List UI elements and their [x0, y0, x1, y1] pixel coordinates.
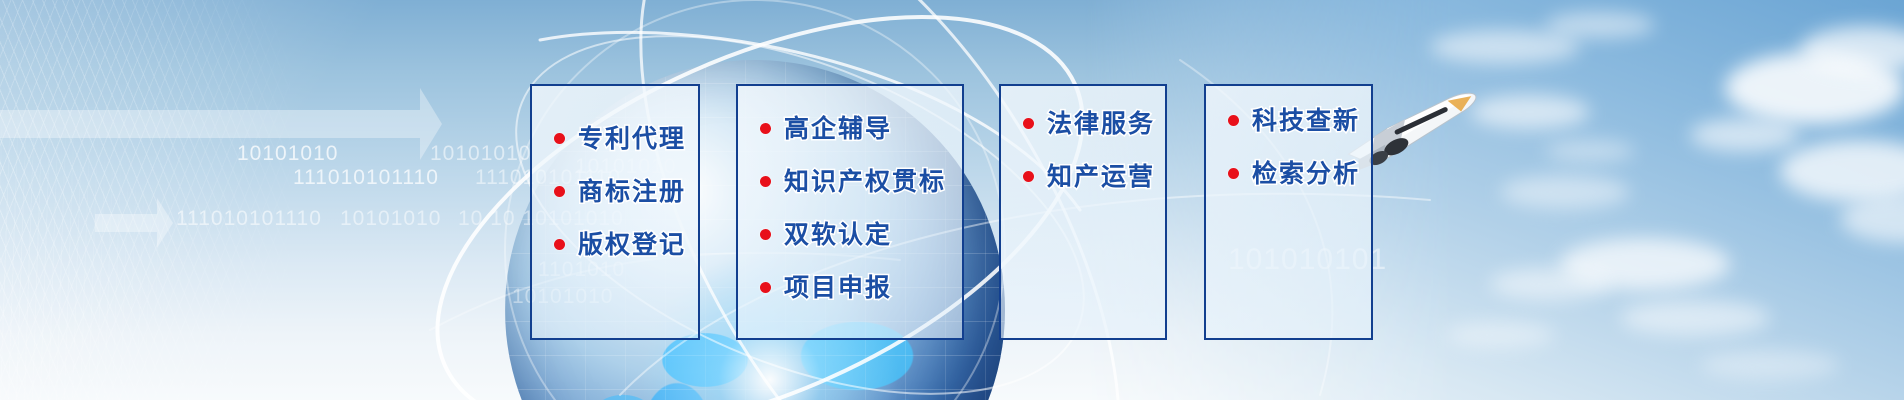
binary-text: 10101010: [237, 142, 338, 166]
binary-text: 111010101110: [176, 207, 322, 231]
service-item[interactable]: 双软认定: [760, 222, 962, 247]
service-item[interactable]: 知产运营: [1023, 164, 1165, 189]
promo-banner: 1010101011101010111010101010111010101110…: [0, 0, 1904, 400]
cloud-shape: [1490, 268, 1610, 300]
service-item-list: 科技查新检索分析: [1228, 108, 1371, 214]
service-item-label: 检索分析: [1252, 161, 1360, 186]
binary-text: 111010101110: [293, 166, 439, 190]
bullet-dot-icon: [760, 176, 771, 187]
service-item-label: 知产运营: [1047, 164, 1155, 189]
service-box-patent-services[interactable]: 专利代理商标注册版权登记: [530, 84, 700, 340]
bullet-dot-icon: [1023, 118, 1034, 129]
service-box-legal-services[interactable]: 法律服务知产运营: [999, 84, 1167, 340]
bullet-dot-icon: [554, 186, 565, 197]
service-item-list: 专利代理商标注册版权登记: [554, 126, 698, 285]
forward-arrow-icon: [95, 198, 173, 248]
service-item[interactable]: 版权登记: [554, 232, 698, 257]
cloud-shape: [1470, 95, 1590, 129]
service-item-label: 专利代理: [578, 126, 686, 151]
service-box-enterprise-services[interactable]: 高企辅导知识产权贯标双软认定项目申报: [736, 84, 964, 340]
bullet-dot-icon: [554, 239, 565, 250]
cloud-shape: [1500, 175, 1630, 209]
cloud-shape: [1545, 12, 1655, 38]
service-item[interactable]: 法律服务: [1023, 111, 1165, 136]
cloud-shape: [1545, 140, 1635, 162]
service-item-list: 法律服务知产运营: [1023, 111, 1165, 217]
service-item[interactable]: 专利代理: [554, 126, 698, 151]
service-item-label: 双软认定: [784, 222, 892, 247]
bullet-dot-icon: [554, 133, 565, 144]
service-item-label: 知识产权贯标: [784, 169, 946, 194]
service-box-research-services[interactable]: 科技查新检索分析: [1204, 84, 1373, 340]
cloud-shape: [1445, 322, 1555, 348]
service-item[interactable]: 商标注册: [554, 179, 698, 204]
arrow-shaft: [95, 214, 157, 232]
service-item-label: 法律服务: [1047, 111, 1155, 136]
bullet-dot-icon: [760, 282, 771, 293]
arrow-shaft: [0, 110, 420, 138]
arrow-head: [157, 198, 173, 248]
bullet-dot-icon: [760, 229, 771, 240]
cloud-shape: [1690, 118, 1800, 152]
bullet-dot-icon: [1228, 168, 1239, 179]
service-item-list: 高企辅导知识产权贯标双软认定项目申报: [760, 116, 962, 328]
service-item[interactable]: 高企辅导: [760, 116, 962, 141]
service-item[interactable]: 项目申报: [760, 275, 962, 300]
cloud-shape: [1430, 30, 1580, 64]
cloud-shape: [1700, 350, 1840, 380]
bullet-dot-icon: [1023, 171, 1034, 182]
service-item-label: 版权登记: [578, 232, 686, 257]
binary-text: 10101010: [430, 142, 531, 166]
service-item[interactable]: 知识产权贯标: [760, 169, 962, 194]
cloud-shape: [1620, 300, 1770, 336]
service-item[interactable]: 检索分析: [1228, 161, 1371, 186]
service-item-label: 科技查新: [1252, 108, 1360, 133]
bullet-dot-icon: [760, 123, 771, 134]
service-item-label: 项目申报: [784, 275, 892, 300]
forward-arrow-icon: [0, 88, 442, 160]
service-item[interactable]: 科技查新: [1228, 108, 1371, 133]
bullet-dot-icon: [1228, 115, 1239, 126]
binary-text: 10101010: [340, 207, 441, 231]
service-item-label: 高企辅导: [784, 116, 892, 141]
service-item-label: 商标注册: [578, 179, 686, 204]
